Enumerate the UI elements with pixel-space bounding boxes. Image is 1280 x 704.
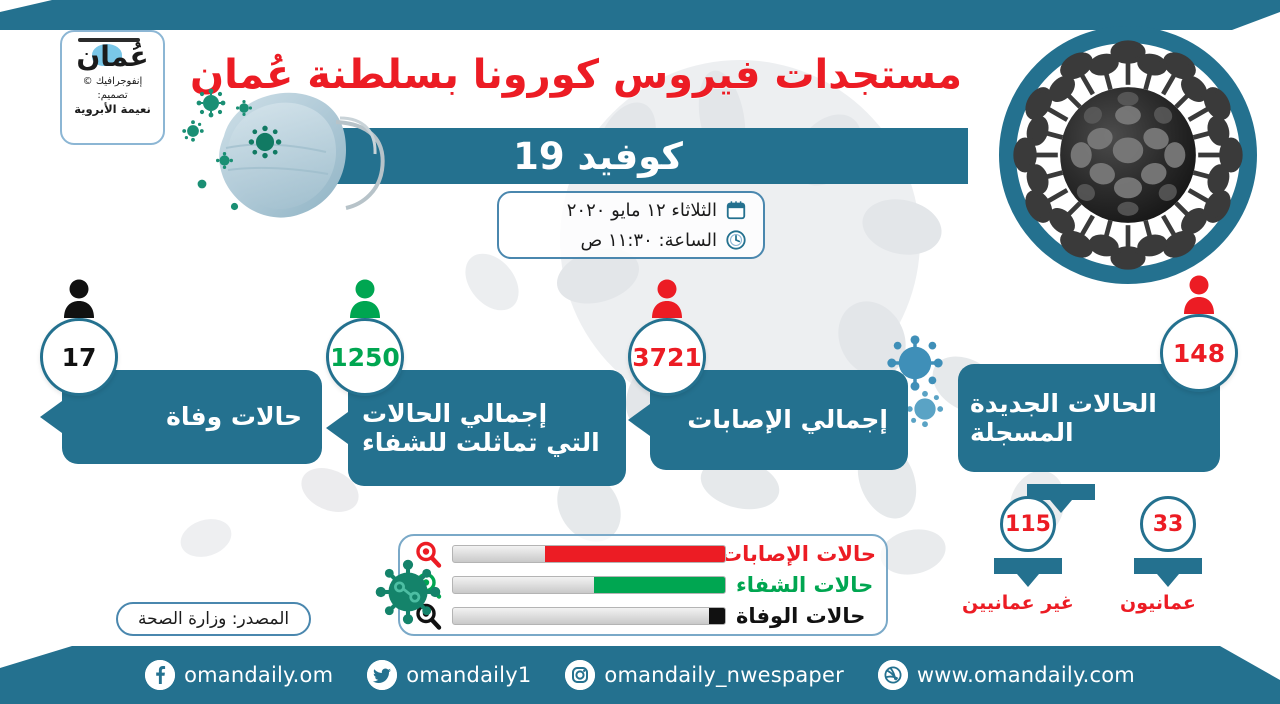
stat-callout-tail [326,412,348,444]
stat-value-bubble: 148 [1160,314,1238,392]
legend-progress-fill [594,577,725,593]
virus-particle-icon [196,175,208,194]
date-row: الثلاثاء ١٢ مايو ٢٠٢٠ [499,195,753,225]
stat-label-line-2: المسجلة [970,418,1074,448]
footer-handle: omandaily.om [184,663,333,687]
stat-value: 148 [1173,339,1225,368]
stat-card-recovered[interactable]: إجمالي الحالات التي تماثلت للشفاء 1250 [326,288,626,488]
person-icon [650,278,684,318]
virus-particle-icon [230,196,239,215]
stat-label-box: إجمالي الحالات التي تماثلت للشفاء [348,370,626,486]
coronavirus-medallion [999,26,1257,284]
footer-handle: omandaily1 [406,663,531,687]
virus-particle-icon [248,125,282,163]
split-connector-stub [1134,558,1202,574]
virus-particle-icon [196,88,226,122]
time-text: الساعة: ١١:٣٠ ص [581,230,717,251]
person-icon [348,278,382,318]
calendar-icon [725,199,747,221]
stat-value: 1250 [330,343,400,372]
footer-item-instagram[interactable]: omandaily_nwespaper [565,660,844,690]
stat-value: 3721 [632,343,702,372]
stat-label-line-1: إجمالي الحالات [362,399,547,429]
stat-value-bubble: 1250 [326,318,404,396]
split-value: 115 [1005,512,1051,537]
date-time-card: الثلاثاء ١٢ مايو ٢٠٢٠ الساعة: ١١:٣٠ ص [497,191,765,259]
split-connector-stub [994,558,1062,574]
twitter-icon [367,660,397,690]
stat-label-line-1: الحالات الجديدة [970,389,1157,419]
virus-particle-icon [182,120,204,146]
legend-progress-fill [545,546,725,562]
infographic-credit-label: إنفوجرافيك © [83,75,143,89]
coronavirus-icon [1011,38,1245,276]
legend-label: حالات الوفاة [736,604,876,628]
date-text: الثلاثاء ١٢ مايو ٢٠٢٠ [567,200,717,221]
virus-particle-icon [236,100,252,120]
legend-panel: حالات الإصابات حالات الشفاء حالات الوف [398,534,888,636]
person-icon [62,278,96,318]
subtitle-text: كوفيد 19 [513,135,713,178]
designer-name: نعيمة الأبروية [74,102,151,118]
legend-row-deaths[interactable]: حالات الوفاة [414,603,876,630]
legend-label: حالات الشفاء [736,573,876,597]
legend-progress-track [452,576,726,594]
stat-value-bubble: 17 [40,318,118,396]
stat-label-line-2: التي تماثلت للشفاء [362,428,600,458]
legend-row-recoveries[interactable]: حالات الشفاء [414,572,876,599]
split-value-bubble-non-omani: 115 [1000,496,1056,552]
footer-item-website[interactable]: www.omandaily.com [878,660,1135,690]
person-icon [1182,274,1216,314]
coronavirus-icon [374,558,442,630]
logo-wordmark: عُمان [70,38,156,74]
split-label-non-omani: غير عمانيين [962,592,1074,614]
stat-card-deaths[interactable]: حالات وفاة 17 [40,288,330,468]
stat-card-total-cases[interactable]: إجمالي الإصابات 3721 [628,288,918,478]
stat-callout-tail [628,404,650,436]
split-value: 33 [1153,512,1184,537]
facebook-icon [145,660,175,690]
legend-row-infections[interactable]: حالات الإصابات [414,541,876,568]
instagram-icon [565,660,595,690]
footer-handle: www.omandaily.com [917,663,1135,687]
source-chip: المصدر: وزارة الصحة [116,602,311,636]
footer-handle: omandaily_nwespaper [604,663,844,687]
stat-value-bubble: 3721 [628,318,706,396]
legend-label: حالات الإصابات [736,542,876,566]
time-row: الساعة: ١١:٣٠ ص [499,225,753,255]
infographic-root: عُمان إنفوجرافيك © تصميم: نعيمة الأبروية [0,0,1280,704]
stat-callout-tail [40,401,62,433]
stat-card-new-cases[interactable]: الحالات الجديدة المسجلة 148 [958,288,1258,488]
stat-value: 17 [62,343,97,372]
top-accent-bar [0,0,1280,30]
publisher-logo-card: عُمان إنفوجرافيك © تصميم: نعيمة الأبروية [60,30,165,145]
footer-item-twitter[interactable]: omandaily1 [367,660,531,690]
legend-progress-track [452,607,726,625]
footer-item-facebook[interactable]: omandaily.om [145,660,333,690]
legend-rows: حالات الإصابات حالات الشفاء حالات الوف [400,541,886,630]
design-credit-label: تصميم: [97,89,127,103]
virus-particle-icon [216,152,233,173]
split-label-omani: عمانيون [1120,592,1196,614]
legend-progress-track [452,545,726,563]
split-value-bubble-omani: 33 [1140,496,1196,552]
stat-label: إجمالي الإصابات [687,405,888,435]
stat-label: حالات وفاة [166,402,302,432]
dribbble-icon [878,660,908,690]
footer-social-bar: omandaily.om omandaily1 omandaily_nwespa… [0,646,1280,704]
legend-progress-fill [709,608,725,624]
oman-daily-logo: عُمان [70,38,156,74]
clock-icon [725,229,747,251]
